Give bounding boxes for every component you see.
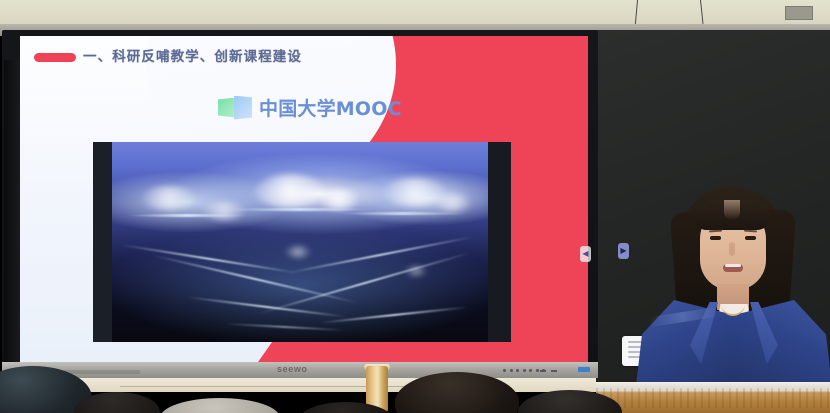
city-night-footage: [112, 142, 488, 342]
desk-edge-line: [120, 386, 450, 387]
open-book-icon: [218, 96, 252, 120]
podium-wood-grain: [596, 388, 830, 408]
chevron-left-icon[interactable]: ◀: [580, 246, 591, 262]
audience-member: [160, 398, 280, 413]
mooc-logo: 中国大学MOOC: [218, 94, 402, 121]
teeth: [725, 264, 741, 267]
letterbox-bar-left: [93, 142, 112, 342]
slide-title: 一、科研反哺教学、创新课程建设: [83, 45, 413, 65]
podium-top-surface: [596, 382, 830, 387]
wall-mounted-box: [785, 6, 813, 20]
panel-control-dots[interactable]: [503, 369, 545, 372]
mooc-logo-text: 中国大学MOOC: [259, 94, 402, 121]
classroom-scene: 一、科研反哺教学、创新课程建设 中国大学MOOC: [0, 0, 830, 413]
title-bullet-icon: [34, 53, 76, 62]
presentation-slide: 一、科研反哺教学、创新课程建设 中国大学MOOC: [20, 36, 588, 362]
back-wall: [0, 0, 830, 26]
nav-left-glyph: ◀: [582, 250, 588, 258]
letterbox-bar-right: [488, 142, 511, 342]
seewo-brand-label: seewo: [277, 364, 308, 374]
presenter: [628, 186, 830, 386]
eye-left: [710, 236, 721, 240]
slide-video[interactable]: [93, 142, 511, 342]
panel-control-buttons[interactable]: [540, 370, 557, 372]
eye-right: [745, 236, 756, 240]
panel-screen[interactable]: 一、科研反哺教学、创新课程建设 中国大学MOOC: [20, 36, 588, 362]
jacket-right: [732, 300, 830, 386]
nav-right-glyph: ▶: [620, 247, 626, 255]
panel-power-led: [578, 367, 590, 372]
nose: [729, 242, 735, 256]
hair-parting: [724, 200, 740, 220]
